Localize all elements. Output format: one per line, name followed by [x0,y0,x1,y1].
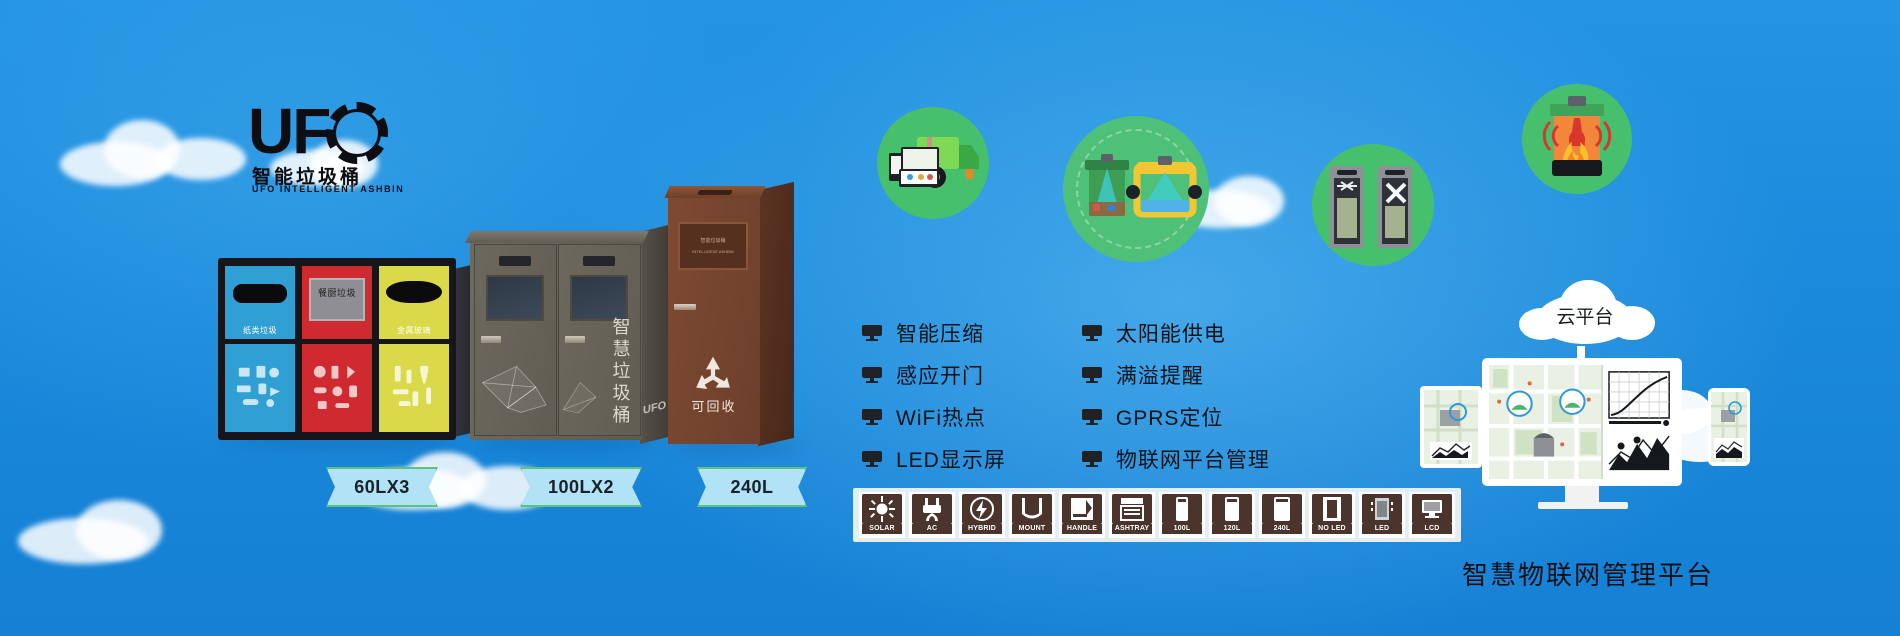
kitchen-waste-graphic-icon [308,358,367,417]
monitor-bullet-icon [1082,367,1102,383]
poster-canvas: UF 智能垃圾桶 UFO INTELLIGENT ASHBIN 纸类垃圾 [0,0,1900,636]
cell-label: 金属玻璃 [379,325,449,336]
bin-240l-icon [1262,494,1302,524]
bin-display-screen [570,275,628,321]
ufo-logo: UF 智能垃圾桶 UFO INTELLIGENT ASHBIN [248,100,423,200]
hybrid-power-icon [962,494,1002,524]
cloud-label: 云平台 [1515,302,1655,329]
monitor-bullet-icon [862,367,882,383]
cell-top: 餐厨垃圾 [302,266,372,339]
bin-top-led-icon [697,190,733,195]
led-strip-icon [499,256,531,266]
bin-cell-kitchen: 餐厨垃圾 [302,266,372,432]
feature-label: 太阳能供电 [1116,318,1226,348]
capacity-banner-100lx2: 100LX2 [520,467,642,507]
cell-bottom [302,344,372,432]
feature-label: GPRS定位 [1116,402,1224,432]
screen-text-line1: 智能垃圾桶 [680,238,746,245]
bin-display-screen [486,275,544,321]
option-label: ASHTRAY [1112,524,1152,534]
metal-glass-graphic-icon [385,358,444,417]
option-handle[interactable]: HANDLE [1059,492,1105,538]
ashtray-icon [1112,494,1152,524]
monitor-bullet-icon [862,451,882,467]
cell-slot-cloud [386,281,442,303]
feature-label: LED显示屏 [896,444,1006,474]
feature-circle-fleet-dispatch [877,107,989,219]
bin-top-cap [465,231,649,243]
monitor-bullet-icon [1082,409,1102,425]
option-hybrid[interactable]: HYBRID [959,492,1005,538]
tri-colour-sorting-bin: 纸类垃圾 餐厨垃圾 [218,258,456,440]
feature-item: LED显示屏 [862,444,1006,474]
logo-inner-ring-icon [333,109,381,157]
feature-column-right: 太阳能供电 满溢提醒 GPRS定位 物联网平台管理 [1082,318,1270,474]
feature-item: 满溢提醒 [1082,360,1270,390]
cell-label: 餐厨垃圾 [302,286,372,299]
option-label: SOLAR [862,524,902,534]
feature-item: 物联网平台管理 [1082,444,1270,474]
no-led-icon [1312,494,1352,524]
feature-item: 太阳能供电 [1082,318,1270,348]
option-240l[interactable]: 240L [1259,492,1305,538]
wall-mount-icon [1012,494,1052,524]
option-label: 100L [1162,524,1202,534]
monitor-bullet-icon [862,409,882,425]
cell-top: 金属玻璃 [379,266,449,339]
sun-icon [862,494,902,524]
logo-wordmark: UF [248,100,329,162]
option-label: NO LED [1312,524,1352,534]
feature-item: WiFi热点 [862,402,1006,432]
bin-handle-icon [565,336,584,342]
bin-120l-icon [1212,494,1252,524]
monitor-base [1538,502,1628,509]
phone-screen [1711,392,1747,462]
bin-frame: 智能垃圾桶 INTELLIGENT ASHBIN 可回收 [668,196,760,444]
feature-circle-fire-alarm [1522,84,1632,194]
facet-pattern-graphic [478,348,552,428]
phone-device [1708,388,1750,466]
recyclables-graphic-icon [231,358,290,417]
cell-top: 纸类垃圾 [225,266,295,339]
feature-label: 感应开门 [896,360,984,390]
capacity-banner-60lx3: 60LX3 [326,467,438,507]
dual-smart-bin: 智慧垃圾桶 UFO [470,240,642,440]
cell-slot-oval [233,284,286,303]
option-label: AC [912,524,952,534]
bin-100l-icon [1162,494,1202,524]
option-label: LCD [1412,524,1452,534]
facet-pattern-graphic [561,363,617,431]
bin-cell-paper: 纸类垃圾 [225,266,295,432]
fleet-dispatch-icon [877,107,989,219]
single-recycle-bin: 智能垃圾桶 INTELLIGENT ASHBIN 可回收 [668,196,788,444]
option-100l[interactable]: 100L [1159,492,1205,538]
led-strip-icon [583,256,615,266]
screen-text-line2: INTELLIGENT ASHBIN [680,248,746,255]
option-label: HANDLE [1062,524,1102,534]
cell-display-screen [309,278,365,322]
feature-item: 感应开门 [862,360,1006,390]
feature-label: 满溢提醒 [1116,360,1204,390]
recycling-symbol-icon [690,354,736,396]
iot-platform-caption: 智慧物联网管理平台 [1398,555,1778,592]
desktop-monitor [1482,358,1682,486]
option-solar[interactable]: SOLAR [859,492,905,538]
bin-display-screen: 智能垃圾桶 INTELLIGENT ASHBIN [678,222,748,270]
iot-platform-illustration: 云平台 [1420,290,1750,520]
dashboard-chart-panel [1601,365,1675,479]
bin-handle-icon [481,336,500,342]
tablet-screen [1424,390,1478,464]
monitor-bullet-icon [1082,325,1102,341]
bin-side-panel [758,182,794,446]
option-icon-strip: SOLAR AC HYBRID [853,488,1461,542]
option-no-led[interactable]: NO LED [1309,492,1355,538]
fire-alarm-icon [1522,84,1632,194]
led-icon [1362,494,1402,524]
compaction-icon [1312,144,1434,266]
monitor-bullet-icon [862,325,882,341]
bin-cell-metal-glass: 金属玻璃 [379,266,449,432]
bin-door-right: 智慧垃圾桶 [558,244,641,436]
feature-label: 物联网平台管理 [1116,444,1270,474]
feature-item: 智能压缩 [862,318,1006,348]
monitor-screen [1489,365,1675,479]
option-ac[interactable]: AC [909,492,955,538]
option-label: MOUNT [1012,524,1052,534]
cell-bottom [225,344,295,432]
tablet-device [1420,386,1482,468]
option-label: LED [1362,524,1402,534]
plug-icon [912,494,952,524]
dashboard-map-panel [1489,365,1601,479]
cell-label: 纸类垃圾 [225,325,295,336]
option-label: 240L [1262,524,1302,534]
option-label: 120L [1212,524,1252,534]
option-led[interactable]: LED [1359,492,1405,538]
feature-label: 智能压缩 [896,318,984,348]
bin-face-label: 可回收 [668,396,760,415]
fill-level-sensor-icon [1063,116,1209,262]
feature-circle-compaction [1312,144,1434,266]
feature-circle-fill-level [1063,116,1209,262]
capacity-banner-240l: 240L [697,467,807,507]
option-mount[interactable]: MOUNT [1009,492,1055,538]
handle-icon [1062,494,1102,524]
monitor-bullet-icon [1082,451,1102,467]
option-label: HYBRID [962,524,1002,534]
feature-column-left: 智能压缩 感应开门 WiFi热点 LED显示屏 [862,318,1006,474]
feature-label: WiFi热点 [896,402,986,432]
bin-door-left [474,244,557,436]
feature-item: GPRS定位 [1082,402,1270,432]
option-120l[interactable]: 120L [1209,492,1255,538]
logo-english-name: UFO INTELLIGENT ASHBIN [252,184,404,194]
option-ashtray[interactable]: ASHTRAY [1109,492,1155,538]
cloud-platform-badge: 云平台 [1515,280,1655,346]
cell-bottom [379,344,449,432]
feature-list: 智能压缩 感应开门 WiFi热点 LED显示屏 [862,318,1270,474]
bin-handle-icon [674,304,696,310]
